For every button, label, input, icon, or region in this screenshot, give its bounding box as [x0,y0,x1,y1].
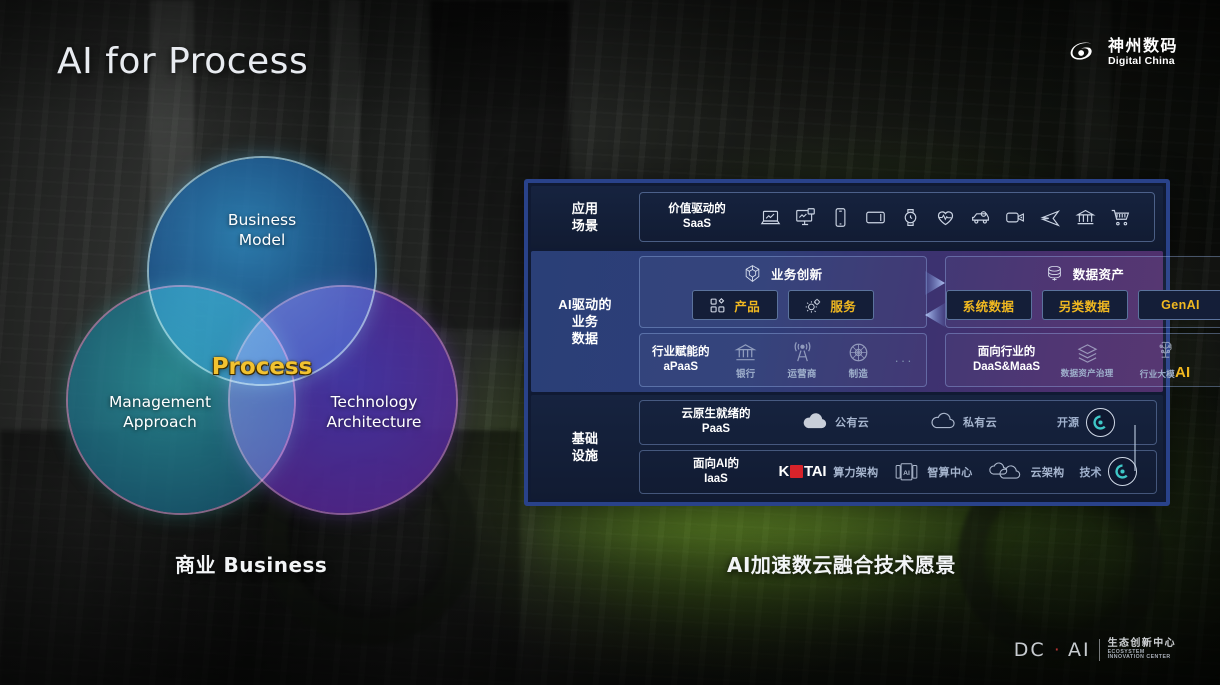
venn-label-line: Model [202,231,322,251]
venn-diagram: Business Model Management Approach Techn… [62,158,462,518]
business-innovation-header: 业务创新 [743,264,823,283]
compute-arch-item: KTAI 算力架构 [778,463,878,480]
kutai-mark [790,465,803,478]
footer-ai: AI [1068,639,1091,661]
desktop-monitor-icon [795,207,816,228]
database-icon [1045,264,1064,283]
infra-connector-line [1134,425,1136,471]
saas-title-line: SaaS [658,217,736,232]
daas-maas-title: 面向行业的 DaaS&MaaS [973,345,1040,375]
apaas-title: 行业赋能的 aPaaS [652,345,710,375]
band-label-infrastructure: 基础 设施 [531,395,639,499]
iaas-title-line: 面向AI的 [664,457,768,472]
footer-dot: · [1054,639,1060,661]
ai-datacenter-item: AI 智算中心 [893,461,972,483]
business-innovation-chips: 产品 服务 [692,290,874,320]
business-innovation-column: 业务创新 产品 服务 [639,256,927,387]
venn-label-line: Technology [294,393,454,413]
openatom-circle-icon [1086,408,1115,437]
infra-row-iaas: 面向AI的 IaaS KTAI 算力架构 AI 智算中心 [639,450,1157,495]
apaas-title-line: aPaaS [652,360,710,375]
daas-title-line: DaaS&MaaS [973,360,1040,375]
data-asset-column: 数据资产 系统数据 另类数据 GenAI [945,256,1220,387]
industry-label: 运营商 [787,366,816,380]
public-cloud-item: 公有云 [801,411,869,433]
paas-title-line: PaaS [664,422,768,437]
band-label-line: 数据 [558,330,612,347]
blocks-icon [709,297,726,314]
chip-label: 服务 [830,296,856,315]
signal-tower-icon [791,341,814,364]
chip-product[interactable]: 产品 [692,290,778,320]
band-label-ai-driven: AI驱动的 业务 数据 [531,251,639,392]
brand-logo: 神州数码 Digital China [1065,36,1178,70]
band-infrastructure: 基础 设施 云原生就绪的 PaaS 公有云 私有云 [531,395,1163,499]
private-cloud-item: 私有云 [929,411,997,433]
data-asset-header: 数据资产 [1045,264,1125,283]
manufacturing-gear-icon [847,341,870,364]
data-governance: 数据资产治理 [1056,342,1118,379]
large-model-text: 行业大模 [1140,369,1175,379]
footer-divider [1099,639,1100,661]
brand-name-en: Digital China [1108,56,1178,67]
cloud-arch-item: 云架构 [988,461,1065,483]
chip-label: 系统数据 [963,296,1015,315]
band-label-line: 场景 [572,217,599,234]
band-ai-driven-business-data: AI驱动的 业务 数据 业务创新 [531,251,1163,392]
venn-label-line: Architecture [294,413,454,433]
chip-label: 产品 [734,296,760,315]
venn-label-line: Management [80,393,240,413]
business-innovation-title: 业务创新 [771,264,823,283]
venn-label-management-approach: Management Approach [80,393,240,433]
bidirectional-chevrons-icon [922,255,948,347]
data-asset-title: 数据资产 [1073,264,1125,283]
chip-label: 另类数据 [1059,296,1111,315]
chip-genai[interactable]: GenAI [1138,290,1220,320]
cloud-filled-icon [801,411,828,433]
svg-text:AI: AI [903,470,910,477]
band-body-application: 价值驱动的 SaaS [639,186,1163,248]
industry-manufacturing: 制造 [838,341,878,380]
chip-alternative-data[interactable]: 另类数据 [1042,290,1128,320]
band-body-infrastructure: 云原生就绪的 PaaS 公有云 私有云 开源 [639,395,1163,499]
cloud-arch-label: 云架构 [1031,464,1065,480]
ai-server-icon: AI [893,461,920,483]
daas-maas-card: 面向行业的 DaaS&MaaS 数据资产治理 行业大模AI [945,333,1220,387]
page-title: AI for Process [57,41,308,82]
architecture-panel: 应用 场景 价值驱动的 SaaS [524,179,1170,506]
footer-dc: DC [1014,639,1046,661]
bank-icon [1075,207,1096,228]
technology-tail: 技术 [1079,457,1137,486]
application-icon-row [760,207,1131,228]
apaas-title-line: 行业赋能的 [652,345,710,360]
chip-label: GenAI [1161,298,1200,312]
footer-center-en2: INNOVATION CENTER [1108,655,1176,661]
chip-system-data[interactable]: 系统数据 [946,290,1032,320]
private-cloud-label: 私有云 [963,414,997,430]
saas-group-title: 价值驱动的 SaaS [658,202,736,231]
cube-cluster-icon [743,264,762,283]
industry-large-model: 行业大模AI [1134,339,1196,381]
paas-items: 公有云 私有云 开源 [768,408,1142,437]
band-label-line: 业务 [558,313,612,330]
band-label-line: 基础 [572,430,599,447]
band-application-scenarios: 应用 场景 价值驱动的 SaaS [531,186,1163,248]
tablet-icon [865,207,886,228]
multi-cloud-icon [988,461,1024,483]
ai-datacenter-label: 智算中心 [927,464,972,480]
industry-ellipsis: ··· [895,353,914,368]
shopping-cart-icon [1110,207,1131,228]
venn-label-line: Approach [80,413,240,433]
saas-group-box: 价值驱动的 SaaS [639,192,1155,242]
band-body-ai-driven: 业务创新 产品 服务 [639,251,1220,392]
paas-title-line: 云原生就绪的 [664,407,768,422]
footer-logo: DC · AI 生态创新中心 ECOSYSTEM INNOVATION CENT… [1014,639,1176,661]
airplane-icon [1040,207,1061,228]
band-label-line: 应用 [572,200,599,217]
swirl-logo-icon [1065,36,1099,70]
laptop-chart-icon [760,207,781,228]
caption-business: 商业 Business [175,549,327,578]
saas-title-line: 价值驱动的 [658,202,736,217]
data-asset-card: 数据资产 系统数据 另类数据 GenAI [945,256,1220,328]
venn-label-technology-architecture: Technology Architecture [294,393,454,433]
bank-building-icon [734,341,757,364]
public-cloud-label: 公有云 [835,414,869,430]
industry-carrier: 运营商 [782,341,822,380]
brain-network-icon [1154,339,1177,362]
heartbeat-icon [935,207,956,228]
industry-label: 银行 [736,366,755,380]
opensource-label: 开源 [1057,414,1079,430]
smartwatch-icon [900,207,921,228]
business-innovation-card: 业务创新 产品 服务 [639,256,927,328]
technology-label: 技术 [1079,464,1101,480]
band-label-application: 应用 场景 [531,186,639,248]
data-asset-chips: 系统数据 另类数据 GenAI [946,290,1220,320]
paas-title: 云原生就绪的 PaaS [664,407,768,437]
venn-center-label-process: Process [192,354,332,380]
opensource-tail: 开源 [1057,408,1115,437]
smartphone-icon [830,207,851,228]
gears-icon [805,297,822,314]
infra-row-paas: 云原生就绪的 PaaS 公有云 私有云 开源 [639,400,1157,445]
video-camera-icon [1005,207,1026,228]
caption-tech-vision: AI加速数云融合技术愿景 [727,549,956,578]
data-layers-icon [1076,342,1099,365]
data-governance-label: 数据资产治理 [1061,367,1114,379]
chip-service[interactable]: 服务 [788,290,874,320]
apaas-card: 行业赋能的 aPaaS 银行 运营商 制造 ··· [639,333,927,387]
iaas-title: 面向AI的 IaaS [664,457,768,487]
brand-name-cn: 神州数码 [1108,39,1178,56]
iaas-title-line: IaaS [664,472,768,487]
band-label-line: 设施 [572,447,599,464]
daas-title-line: 面向行业的 [973,345,1040,360]
iaas-items: KTAI 算力架构 AI 智算中心 云架构 技术 [768,457,1142,486]
ai-suffix: AI [1175,364,1190,381]
compute-arch-label: 算力架构 [833,464,878,480]
venn-label-business-model: Business Model [202,211,322,251]
band-label-line: AI驱动的 [558,296,612,313]
industry-label: 制造 [849,366,868,380]
cloud-outline-icon [929,411,956,433]
kutai-logo: KTAI [778,463,826,480]
industry-bank: 银行 [726,341,766,380]
venn-label-line: Business [202,211,322,231]
large-model-label: 行业大模AI [1140,364,1191,381]
car-icon [970,207,991,228]
